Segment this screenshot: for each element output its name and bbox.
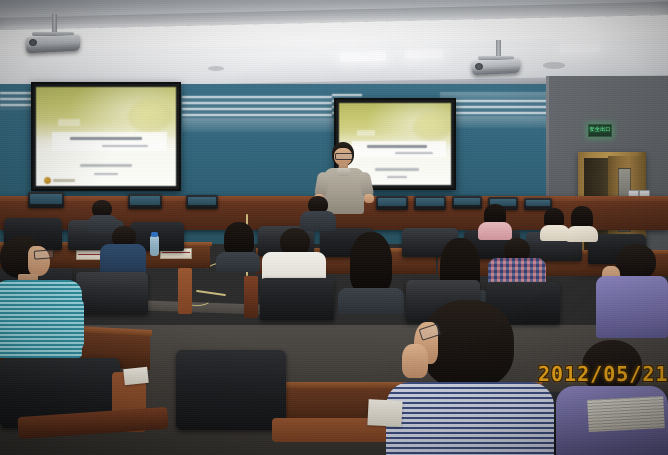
handout-paper	[367, 399, 402, 427]
wall-slat-panel	[442, 100, 550, 116]
slide-date-text	[387, 176, 407, 178]
audience-member	[566, 206, 598, 240]
slide-presenter-text	[80, 164, 132, 167]
newspaper	[587, 396, 665, 432]
seat-back	[260, 278, 334, 320]
exit-sign: 安全出口	[588, 124, 612, 137]
attendee-glasses	[34, 249, 55, 259]
ceiling-light-panel	[405, 50, 443, 59]
desk-monitor	[376, 196, 408, 210]
handout-paper	[123, 367, 149, 385]
slide-decorative-blob	[128, 99, 172, 133]
seat-armrest	[244, 276, 258, 318]
projector-lens	[475, 63, 483, 70]
monitor-screen	[416, 198, 444, 206]
monitor-screen	[378, 198, 406, 206]
water-bottle	[150, 236, 159, 256]
slide-tag-box	[357, 130, 375, 136]
projector-left	[18, 14, 88, 60]
slide-logo-icon	[44, 177, 51, 184]
attendee-torso	[596, 276, 668, 338]
desk-monitor	[28, 192, 64, 208]
attendee-shoulder	[48, 296, 84, 352]
audience-member	[338, 232, 404, 310]
ceiling-light-panel	[560, 44, 600, 53]
exit-sign-label: 安全出口	[589, 128, 610, 133]
attendee-head	[616, 244, 656, 280]
camera-date-stamp: 2012/05/21	[538, 362, 668, 386]
ceiling-light-panel	[340, 52, 386, 62]
audience-member	[216, 222, 260, 270]
presenter-glasses	[335, 153, 353, 160]
slide-date-text	[94, 173, 118, 175]
slide-decorative-blob	[413, 113, 451, 141]
seat-armrest	[178, 268, 192, 314]
slide-subtitle-text	[102, 145, 148, 147]
monitor-screen	[454, 198, 480, 205]
projector-lens	[29, 39, 37, 46]
wall-slat-panel	[182, 96, 332, 118]
projector-mount-pole	[52, 14, 57, 34]
ceiling-vent	[208, 66, 224, 71]
attendee-torso	[216, 252, 260, 272]
projector-right	[466, 40, 528, 82]
monitor-screen	[188, 197, 216, 205]
attendee-hand	[402, 344, 428, 378]
slide-title-bar	[52, 132, 167, 151]
audience-member-foreground-left	[0, 236, 82, 356]
monitor-screen	[130, 196, 160, 205]
wall-light-band	[442, 116, 552, 128]
presenter-collar	[337, 168, 350, 176]
attendee-torso	[386, 382, 554, 455]
audience-member-foreground-center	[372, 300, 552, 455]
slide-logo-wordmark	[53, 179, 75, 182]
attendee-hair	[224, 222, 254, 256]
attendee-hair	[350, 232, 392, 294]
desk-monitor	[128, 194, 162, 209]
slide-presenter-text	[375, 168, 419, 171]
monitor-screen	[30, 194, 62, 204]
audience-member	[300, 196, 336, 230]
slide-tag-box	[58, 119, 80, 126]
presenter-hand-right	[364, 194, 374, 203]
audience-member	[596, 244, 668, 336]
wall-light-band	[182, 118, 334, 132]
attendee-torso	[566, 226, 598, 242]
bottle-cap	[151, 232, 158, 237]
name-card-stripe	[162, 252, 190, 253]
lecture-hall-photo: 安全出口	[0, 0, 668, 455]
desk-monitor	[414, 196, 446, 210]
seat-back-foreground	[176, 350, 286, 430]
monitor-screen	[526, 200, 550, 206]
slide-title-text	[70, 137, 142, 140]
wall-slat-panel	[0, 92, 34, 110]
projection-screen-left	[31, 82, 181, 191]
projection-screen-left-surface	[36, 87, 176, 186]
audience-member	[478, 204, 512, 238]
audience-member	[100, 226, 146, 276]
slide-subtitle-text	[395, 152, 433, 154]
ceiling-vent	[543, 62, 565, 69]
seat-back	[76, 272, 148, 314]
desk-monitor	[186, 195, 218, 209]
